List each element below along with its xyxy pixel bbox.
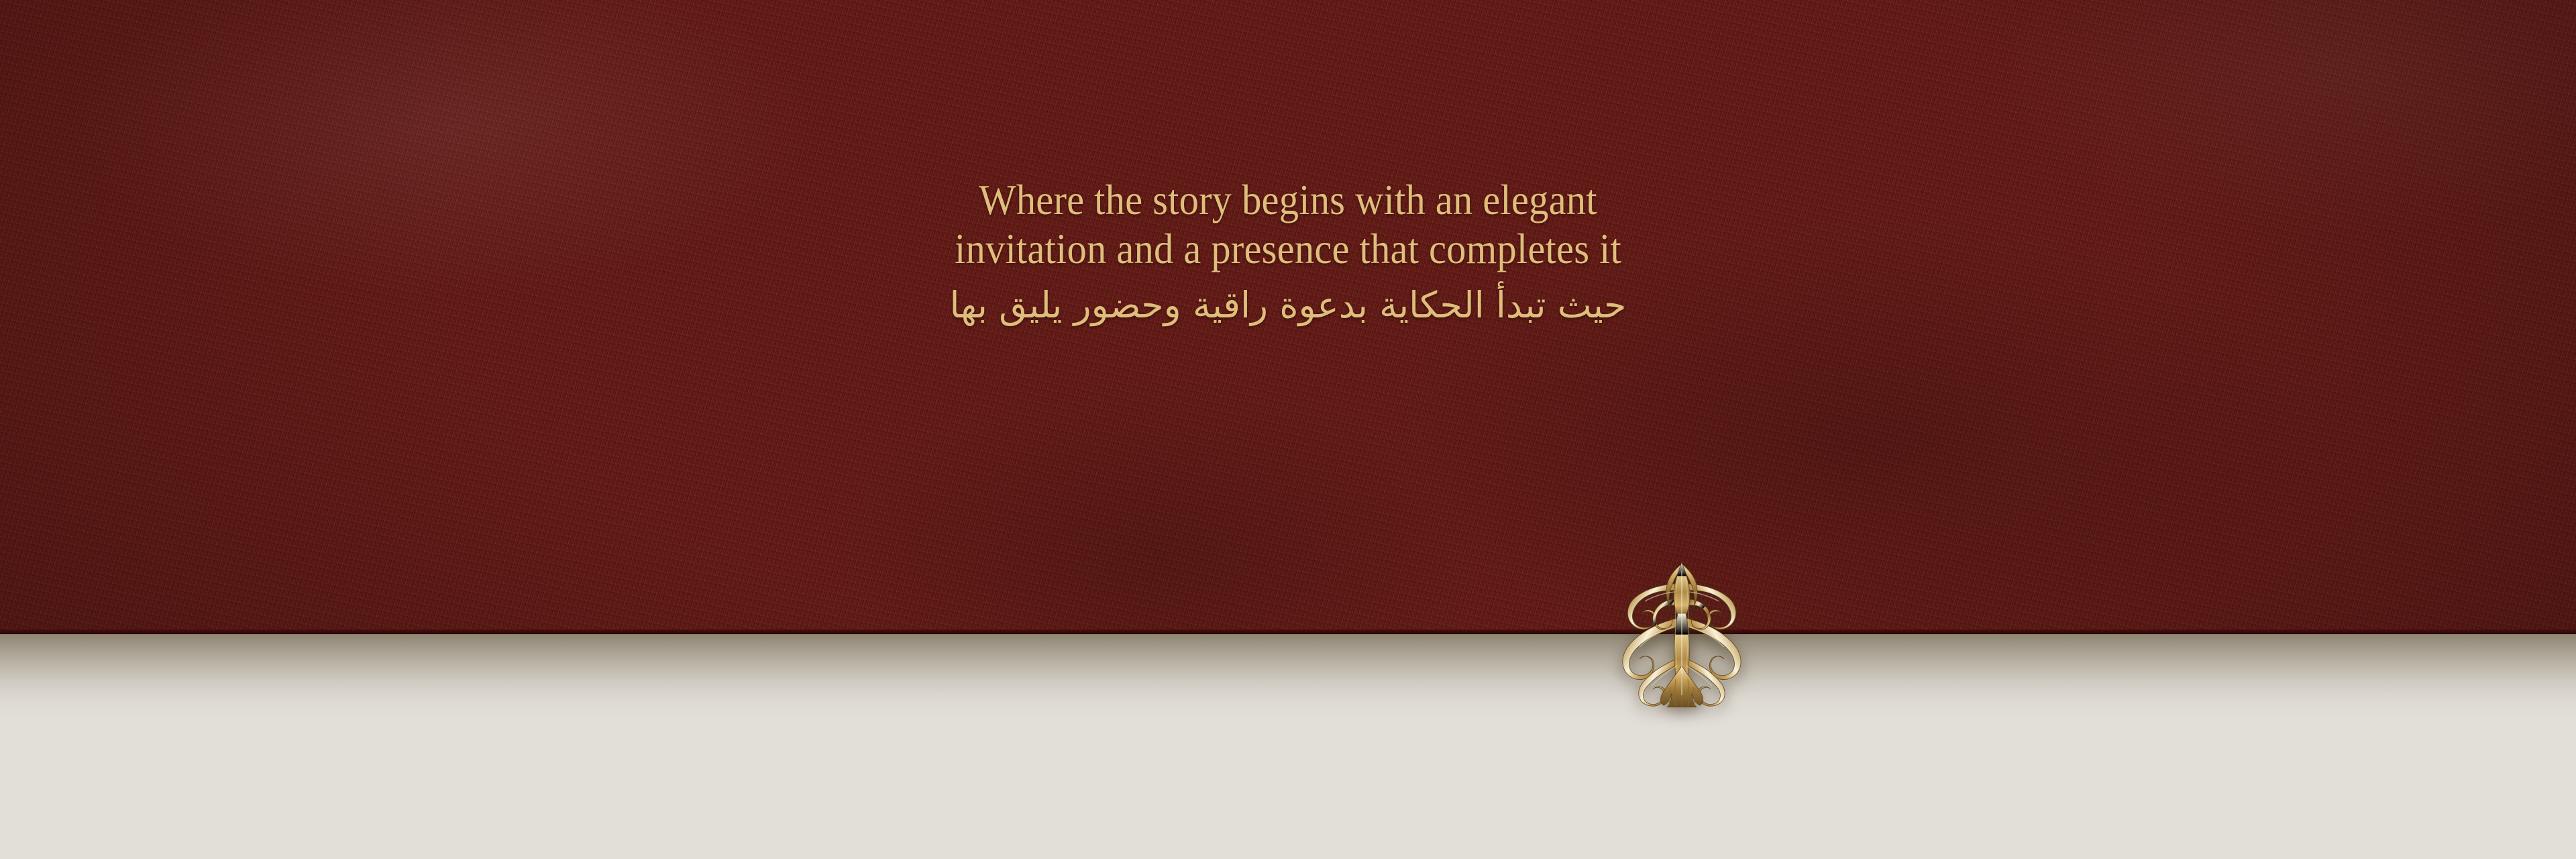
- headline-english-line-1: Where the story begins with an elegant: [90, 176, 2485, 225]
- headline-english-line-2: invitation and a presence that completes…: [90, 225, 2485, 274]
- hero-text-block: Where the story begins with an elegant i…: [0, 176, 2576, 332]
- headline-arabic: حيث تبدأ الحكاية بدعوة راقية وحضور يليق …: [0, 279, 2576, 332]
- acanthus-leaf-ornament: [1618, 561, 1746, 707]
- invitation-hero-section: Where the story begins with an elegant i…: [0, 0, 2576, 859]
- panel-bottom-edge-line: [0, 629, 2576, 634]
- page-lower-surface: [0, 634, 2576, 859]
- ornament-body: [1623, 562, 1741, 707]
